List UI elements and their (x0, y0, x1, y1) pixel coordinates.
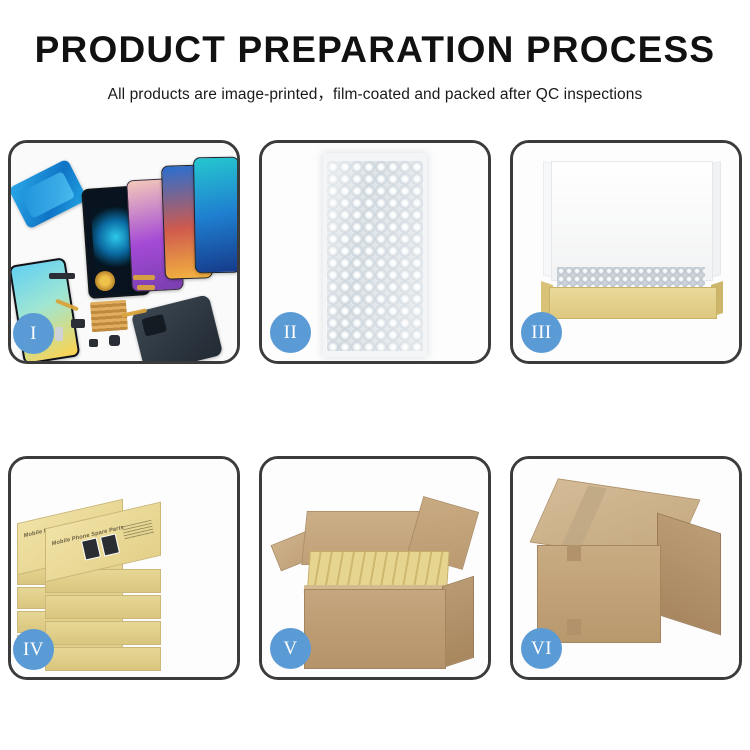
box-lid-icon (551, 161, 713, 281)
carton-tab-lower-icon (567, 619, 581, 635)
phone-screen-teal-icon (193, 157, 237, 274)
process-step-card-2: II (259, 140, 491, 364)
process-step-grid: I II III (8, 140, 742, 680)
process-step-card-4: Mobile Phone Spare Parts Mobile Phone Sp… (8, 456, 240, 680)
page-title: PRODUCT PREPARATION PROCESS (0, 30, 750, 71)
step-badge-6: VI (521, 628, 562, 669)
step-badge-2: II (270, 312, 311, 353)
chip-part-icon (109, 335, 120, 346)
flex-cable-part-icon (137, 285, 155, 290)
chip-part-icon (49, 273, 75, 279)
process-step-card-3: III (510, 140, 742, 364)
sealed-carton-side-icon (657, 513, 721, 636)
phone-screen-blue-film-icon (11, 159, 88, 230)
carton-tab-upper-icon (567, 545, 581, 561)
sealed-carton-front-icon (537, 545, 661, 643)
small-battery-part-icon (55, 327, 63, 341)
page-header: PRODUCT PREPARATION PROCESS All products… (0, 0, 750, 104)
copper-coil-part-icon (95, 271, 115, 291)
page-subtitle: All products are image-printed，film-coat… (0, 82, 750, 104)
bubble-wrap-icon (327, 161, 423, 351)
step-badge-1: I (13, 313, 54, 354)
step-badge-3: III (521, 312, 562, 353)
carton-side-right-icon (442, 576, 474, 668)
step-badge-5: V (270, 628, 311, 669)
process-step-card-6: VI (510, 456, 742, 680)
infographic-page: PRODUCT PREPARATION PROCESS All products… (0, 0, 750, 750)
flex-cable-part-icon (133, 275, 155, 280)
stacked-box-icon (45, 647, 161, 671)
stacked-box-icon (45, 595, 161, 619)
kraft-box-front-icon (549, 287, 717, 319)
step-badge-4: IV (13, 629, 54, 670)
carton-front-icon (304, 589, 446, 669)
phone-back-housing-icon (131, 294, 224, 361)
chip-part-icon (89, 339, 98, 347)
stacked-box-icon (45, 621, 161, 645)
process-step-card-5: V (259, 456, 491, 680)
chip-part-icon (71, 319, 85, 328)
bubble-wrapped-contents-icon (557, 267, 705, 289)
process-step-card-1: I (8, 140, 240, 364)
